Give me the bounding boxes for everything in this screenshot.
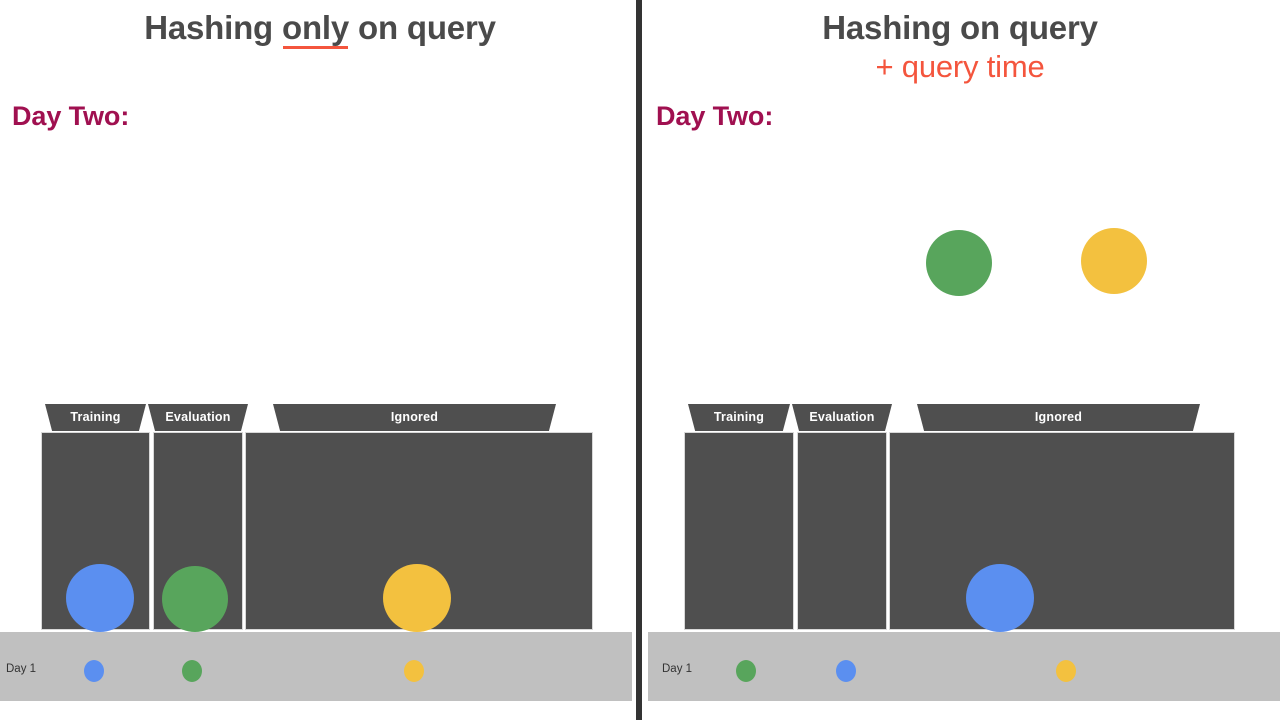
panel-divider <box>636 0 642 720</box>
slide-canvas: Hashing only on query Day Two: Training … <box>0 0 1280 720</box>
title-subtitle: + query time <box>640 49 1280 85</box>
bin-cap-label: Ignored <box>391 410 438 424</box>
bin-cap-ignored: Ignored <box>273 404 556 431</box>
panel-left: Hashing only on query Day Two: Training … <box>0 0 640 720</box>
timeline-day-one: Day 1 <box>648 632 1280 701</box>
panel-right-day-label: Day Two: <box>656 101 773 132</box>
bin-cap-evaluation: Evaluation <box>792 404 892 431</box>
panel-right: Hashing on query + query time Day Two: T… <box>640 0 1280 720</box>
bin-cap-label: Evaluation <box>165 410 230 424</box>
timeline-dot-blue <box>84 660 104 682</box>
timeline-dot-green <box>182 660 202 682</box>
bin-cap-label: Training <box>70 410 120 424</box>
bin-cap-ignored: Ignored <box>917 404 1200 431</box>
floating-ball-green <box>926 230 992 296</box>
query-ball-blue <box>966 564 1034 632</box>
title-text-before: Hashing on query <box>822 9 1098 46</box>
title-text-after: on query <box>349 9 496 46</box>
bin-cap-label: Ignored <box>1035 410 1082 424</box>
timeline-label: Day 1 <box>662 663 692 675</box>
bin-training <box>684 432 794 630</box>
query-ball-blue <box>66 564 134 632</box>
timeline-dot-yellow <box>1056 660 1076 682</box>
timeline-day-one: Day 1 <box>0 632 632 701</box>
bin-cap-training: Training <box>45 404 146 431</box>
bin-cap-label: Training <box>714 410 764 424</box>
panel-left-title: Hashing only on query <box>0 11 640 46</box>
bin-ignored <box>889 432 1235 630</box>
bin-cap-label: Evaluation <box>809 410 874 424</box>
panel-left-day-label: Day Two: <box>12 101 129 132</box>
query-ball-yellow <box>383 564 451 632</box>
timeline-dot-blue <box>836 660 856 682</box>
timeline-dot-green <box>736 660 756 682</box>
query-ball-green <box>162 566 228 632</box>
timeline-label: Day 1 <box>6 663 36 675</box>
bin-cap-training: Training <box>688 404 790 431</box>
bin-evaluation <box>797 432 887 630</box>
title-text-before: Hashing <box>144 9 282 46</box>
floating-ball-yellow <box>1081 228 1147 294</box>
bin-cap-evaluation: Evaluation <box>148 404 248 431</box>
panel-right-title: Hashing on query + query time <box>640 11 1280 84</box>
timeline-dot-yellow <box>404 660 424 682</box>
title-text-emphasis: only <box>282 11 349 46</box>
